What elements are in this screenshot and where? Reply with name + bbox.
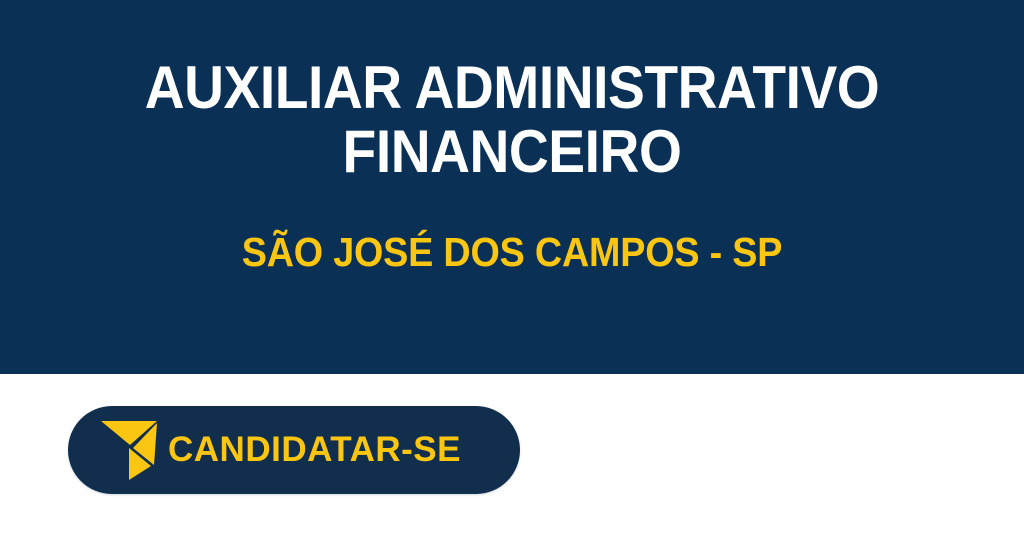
apply-button[interactable]: CANDIDATAR-SE — [68, 406, 520, 494]
hero-banner: AUXILIAR ADMINISTRATIVO FINANCEIRO SãO J… — [0, 0, 1024, 374]
send-plane-icon — [100, 419, 158, 481]
apply-button-label: CANDIDATAR-SE — [168, 430, 461, 470]
job-vacancy-card: AUXILIAR ADMINISTRATIVO FINANCEIRO SãO J… — [0, 0, 1024, 538]
job-location: SãO JOSé DOS CAMPOS - SP — [126, 231, 899, 274]
footer-bar: CANDIDATAR-SE EMPREGA SÃO JOSÉ — [0, 374, 1024, 538]
job-title: AUXILIAR ADMINISTRATIVO FINANCEIRO — [126, 56, 899, 183]
